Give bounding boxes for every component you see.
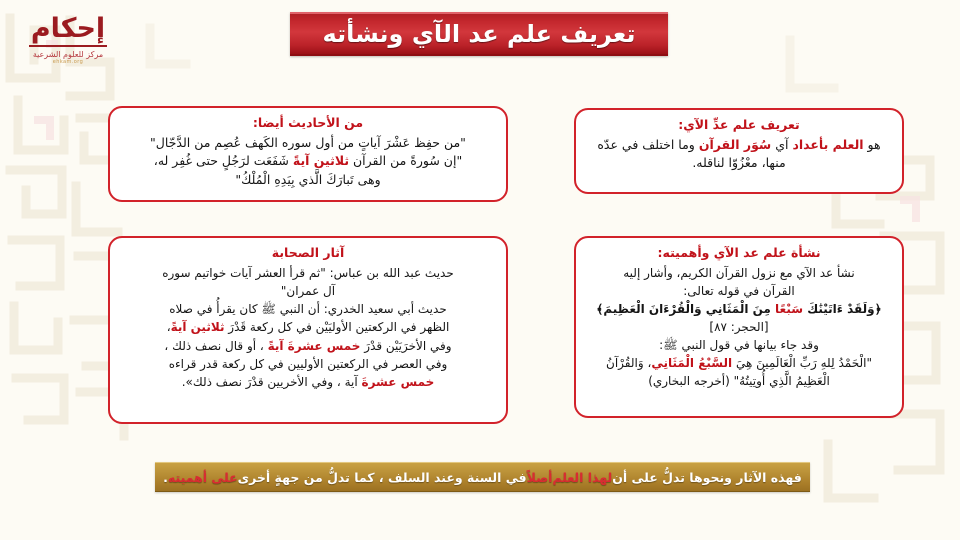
card-companions-line-3: حديث أبي سعيد الخدري: أن النبي ﷺ كان يقر… [122, 300, 494, 318]
athar-text-7b: آية ، وفي الأخريين قدْرَ نصف ذلك». [182, 375, 362, 389]
logo-url: ehkam.org [16, 59, 120, 65]
card-companions-line-5: وفي الأخرَيَيْن قدْرَ خمس عشرةَ آيةً ، أ… [122, 337, 494, 355]
card-companions-line-2: آل عمران" [122, 282, 494, 300]
conclusion-banner: فهذه الآثار ونحوها تدلُّ على أن لهذا الع… [155, 462, 810, 492]
card-companions-title: آثار الصحابة [122, 244, 494, 263]
athar-text-5c: ، أو قال نصف ذلك ، [164, 339, 267, 353]
page-title: تعريف علم عد الآي ونشأته [323, 20, 636, 48]
card-companions-line-4: الظهر في الركعتين الأوليَيْن في كل ركعة … [122, 318, 494, 336]
card-hadith-title: من الأحاديث أيضا: [122, 114, 494, 133]
card-hadith-line-2: "إن سُورةً من القرآن ثلاثين آيةً شَفَعَت… [122, 152, 494, 171]
def-text-e: وما اختلف في عدّه [597, 137, 698, 152]
logo-subtitle: مركز للعلوم الشرعية [16, 50, 120, 60]
def-text-c: آي [771, 137, 792, 152]
origin-quote-b: السَّبْعُ الْمَثَانِي [651, 356, 732, 370]
athar-text-5b: خمس عشرةَ آيةً [268, 339, 361, 353]
banner-part-5: في السنة وعند السلف ، كما تدلُّ من جهةٍ … [238, 470, 527, 485]
card-hadith-line-1: "من حفِظ عَشْرَ آياتٍ من أول سوره الكَهف… [122, 134, 494, 153]
origin-quote-c: ، وَالقُرْآنُ [606, 356, 651, 370]
card-origin-verse-reference: [الحجر: ٨٧] [588, 318, 890, 336]
card-origin-hadith-quote: "الْحَمْدُ لِلهِ رَبِّ الْعَالَمِينَ هِي… [588, 354, 890, 372]
def-text-a: هو [864, 137, 881, 152]
card-origin-line-2: القرآن في قوله تعالى: [588, 282, 890, 300]
ayah-text-a: ﴿وَلَقَدْ ءَاتَيْنَٰكَ [803, 302, 882, 316]
banner-part-2: لهذا العلم [552, 470, 612, 485]
card-companions-line-1: حديث عبد الله بن عباس: "ثم قرأ العشر آيا… [122, 264, 494, 282]
card-definition-title: تعريف علم عدِّ الآي: [588, 116, 890, 135]
card-definition-line-2: منها، معْزُوّا لناقله. [588, 154, 890, 173]
hadith-text-b: ثلاثين آيةً [293, 153, 349, 168]
banner-part-4: أصلاً [527, 470, 553, 485]
card-definition-line-1: هو العلم بأعداد آي سُوَر القرآن وما اختل… [588, 136, 890, 155]
card-companions-line-7: خمس عشرةَ آية ، وفي الأخريين قدْرَ نصف ذ… [122, 373, 494, 391]
def-text-d: سُوَر القرآن [699, 137, 771, 152]
card-origin: نشأة علم عد الآي وأهميته: نشأ عد الآي مع… [574, 236, 904, 418]
card-origin-line-3: وقد جاء بيانها في قول النبي ﷺ: [588, 336, 890, 354]
athar-text-5a: وفي الأخرَيَيْن قدْرَ [360, 339, 451, 353]
card-origin-title: نشأة علم عد الآي وأهميته: [588, 244, 890, 263]
athar-text-4b: ثلاثين آيةً [171, 320, 225, 334]
athar-text-4a: الظهر في الركعتين الأوليَيْن في كل ركعة … [224, 320, 449, 334]
ayah-text-c: مِنَ الْمَثَانِي وَالْقُرْءَانَ الْعَظِي… [596, 302, 775, 316]
athar-text-7a: خمس عشرةَ [362, 375, 435, 389]
slide-title-bar: تعريف علم عد الآي ونشأته [290, 12, 668, 56]
banner-part-7: . [163, 470, 168, 485]
card-definition: تعريف علم عدِّ الآي: هو العلم بأعداد آي … [574, 108, 904, 194]
card-origin-quran-verse: ﴿وَلَقَدْ ءَاتَيْنَٰكَ سَبْعًا مِنَ الْم… [588, 300, 890, 318]
card-origin-line-1: نشأ عد الآي مع نزول القرآن الكريم، وأشار… [588, 264, 890, 282]
ayah-text-b: سَبْعًا [775, 302, 803, 316]
card-companions-line-6: وفي العصر في الركعتين الأوليين في كل ركع… [122, 355, 494, 373]
hadith-text-a: "إن سُورةً من القرآن [349, 153, 462, 168]
def-text-b: العلم بأعداد [792, 137, 863, 152]
hadith-text-c: شَفَعَت لرَجُلٍ حتى غُفِر له، [154, 153, 293, 168]
banner-part-6: على أهميته [168, 470, 238, 485]
brand-logo: إحكام مركز للعلوم الشرعية ehkam.org [16, 14, 120, 88]
slide-root: تعريف علم عد الآي ونشأته إحكام مركز للعل… [0, 0, 960, 540]
card-hadith: من الأحاديث أيضا: "من حفِظ عَشْرَ آياتٍ … [108, 106, 508, 202]
card-companions-reports: آثار الصحابة حديث عبد الله بن عباس: "ثم … [108, 236, 508, 424]
banner-part-1: فهذه الآثار ونحوها تدلُّ على أن [612, 470, 802, 485]
card-hadith-line-3: وهى تَبارَكَ الَّذي بِيَدِهِ الْمُلْكُ" [122, 171, 494, 190]
card-origin-hadith-source: الْعَظِيمُ الَّذِي أُوتِيتُهُ" (أخرجه ال… [588, 372, 890, 390]
origin-quote-a: "الْحَمْدُ لِلهِ رَبِّ الْعَالَمِينَ هِي… [732, 356, 872, 370]
logo-wordmark: إحكام [29, 14, 107, 47]
